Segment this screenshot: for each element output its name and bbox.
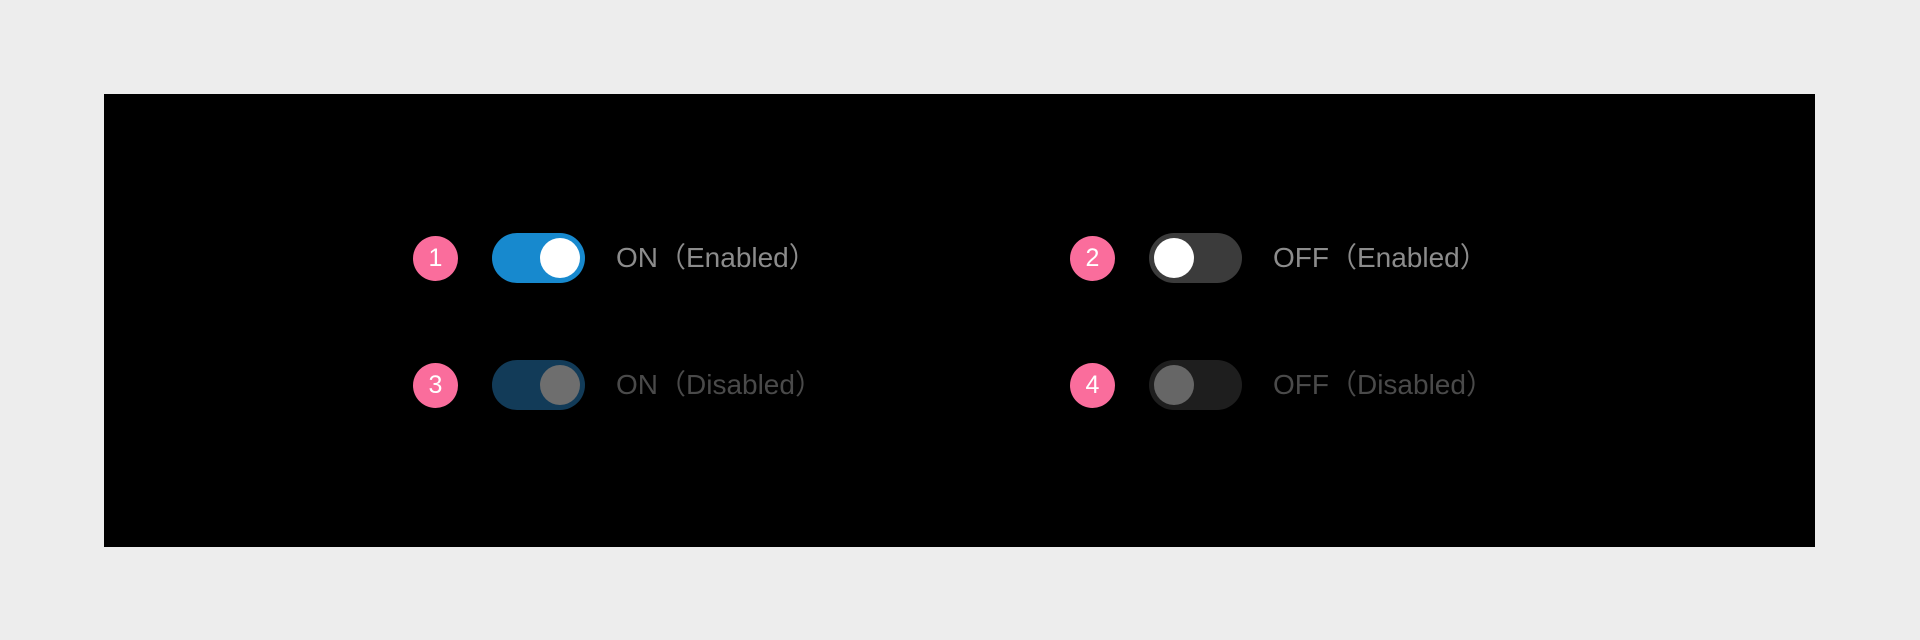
screenshot-stage: 1 ON（Enabled） 2 OFF（Enabled） 3 [0, 0, 1920, 640]
toggle-knob [540, 238, 580, 278]
toggle-showcase-panel: 1 ON（Enabled） 2 OFF（Enabled） 3 [104, 94, 1815, 547]
toggle-knob [1154, 365, 1194, 405]
step-badge-2: 2 [1070, 236, 1115, 281]
toggle-row-3: 3 ON（Disabled） [413, 359, 823, 411]
step-badge-3: 3 [413, 363, 458, 408]
toggle-knob [1154, 238, 1194, 278]
toggle-switch-on-enabled[interactable] [492, 233, 585, 283]
toggle-row-4: 4 OFF（Disabled） [1070, 359, 1494, 411]
toggle-label-2: OFF（Enabled） [1273, 244, 1488, 272]
toggle-switch-off-disabled [1149, 360, 1242, 410]
toggle-label-1: ON（Enabled） [616, 244, 817, 272]
toggle-label-3: ON（Disabled） [616, 371, 823, 399]
toggle-grid: 1 ON（Enabled） 2 OFF（Enabled） 3 [413, 94, 1815, 547]
toggle-label-4: OFF（Disabled） [1273, 371, 1494, 399]
toggle-switch-on-disabled [492, 360, 585, 410]
toggle-switch-off-enabled[interactable] [1149, 233, 1242, 283]
step-badge-1: 1 [413, 236, 458, 281]
toggle-row-2[interactable]: 2 OFF（Enabled） [1070, 232, 1488, 284]
step-badge-4: 4 [1070, 363, 1115, 408]
toggle-row-1[interactable]: 1 ON（Enabled） [413, 232, 817, 284]
toggle-knob [540, 365, 580, 405]
